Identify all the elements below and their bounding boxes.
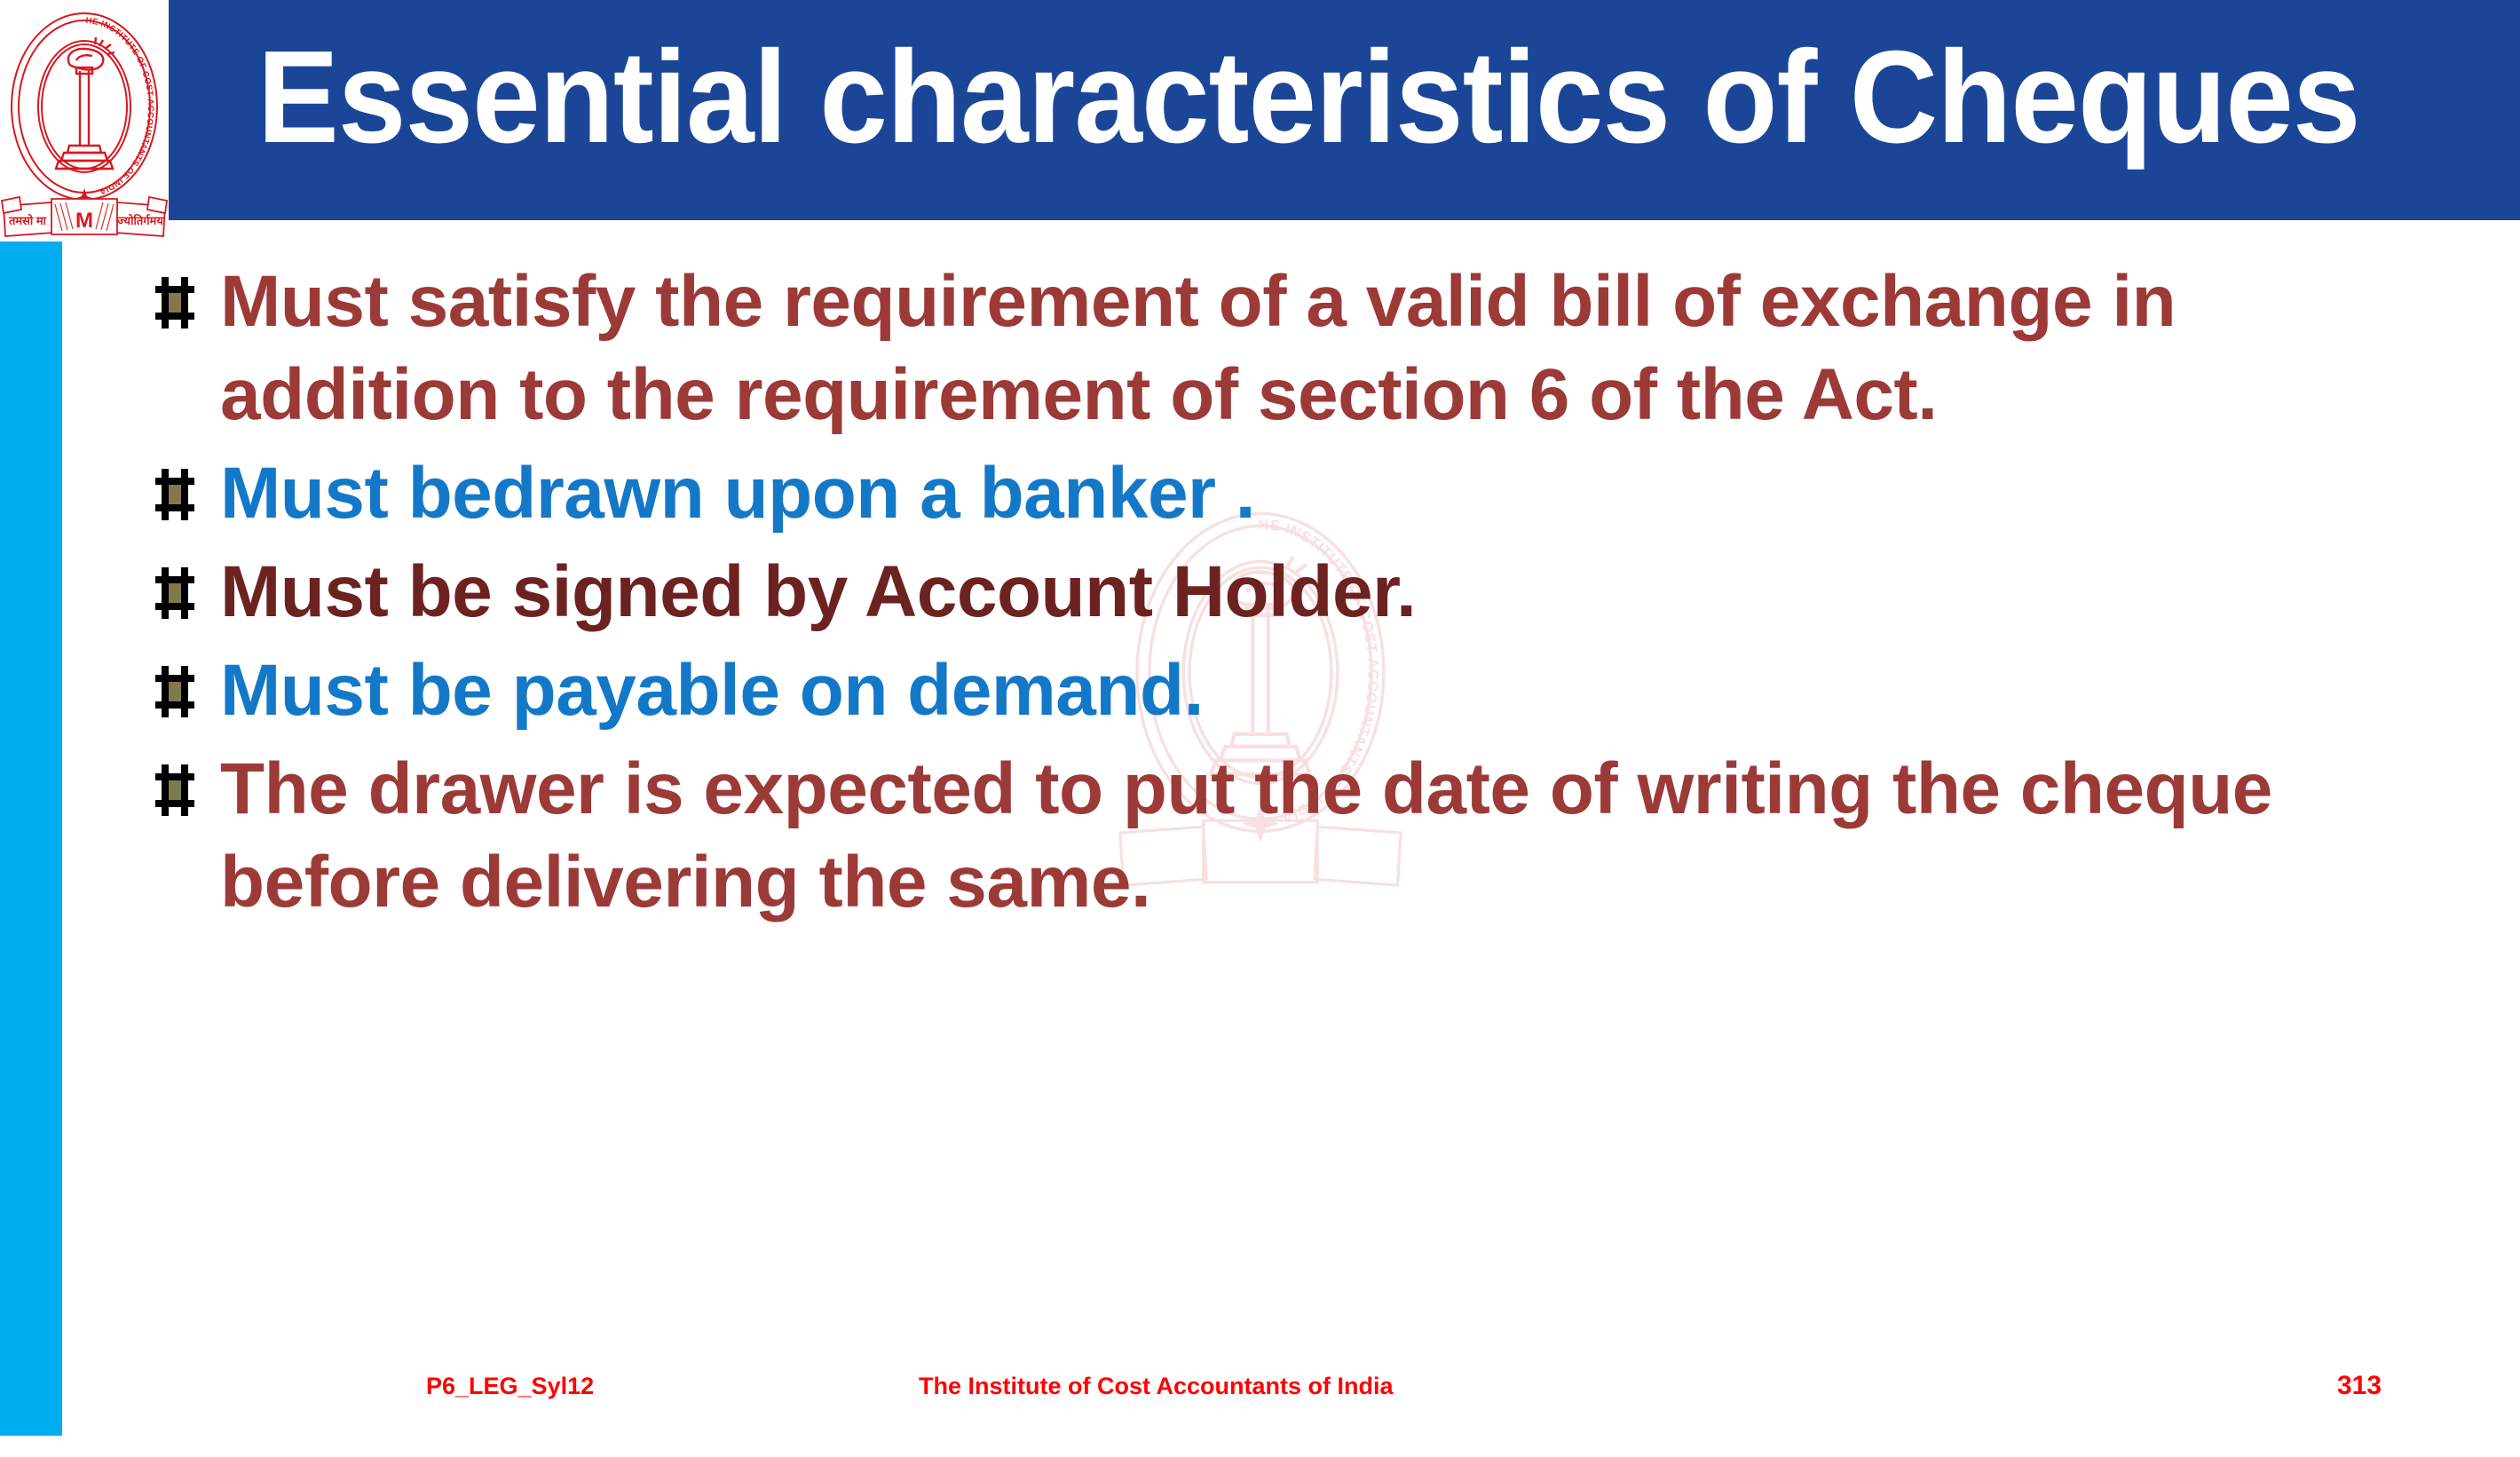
square-crossbar-bullet-icon <box>151 743 220 818</box>
footer-page-number: 313 <box>2337 1371 2382 1401</box>
square-crossbar-bullet-icon <box>151 645 220 719</box>
slide-body: Must satisfy the requirement of a valid … <box>151 256 2459 935</box>
page-title: Essential characteristics of Cheques <box>257 32 2328 163</box>
list-item: Must bedrawn upon a banker . <box>151 447 2459 541</box>
list-item-text: Must satisfy the requirement of a valid … <box>220 256 2459 442</box>
list-item-text: Must bedrawn upon a banker . <box>220 447 2459 541</box>
list-item: The drawer is expected to put the date o… <box>151 743 2459 930</box>
list-item: Must satisfy the requirement of a valid … <box>151 256 2459 442</box>
svg-text:ज्योतिर्गमय: ज्योतिर्गमय <box>116 214 163 227</box>
svg-text:तमसो मा: तमसो मा <box>8 214 47 227</box>
list-item-text: The drawer is expected to put the date o… <box>220 743 2459 930</box>
list-item: Must be payable on demand. <box>151 645 2459 738</box>
footer-institute-name: The Institute of Cost Accountants of Ind… <box>919 1373 1394 1400</box>
slide-canvas: Essential characteristics of Cheques THE… <box>0 0 2520 1457</box>
list-item-text: Must be signed by Account Holder. <box>220 546 2459 639</box>
list-item-text: Must be payable on demand. <box>220 645 2459 738</box>
slide-title-bar: Essential characteristics of Cheques <box>169 0 2520 220</box>
square-crossbar-bullet-icon <box>151 546 220 621</box>
list-item: Must be signed by Account Holder. <box>151 546 2459 639</box>
icai-logo: THE INSTITUTE OF COST ACCOUNTANTS OF IND… <box>0 0 169 238</box>
square-crossbar-bullet-icon <box>151 256 220 330</box>
left-accent-strip <box>0 242 62 1436</box>
svg-text:M: M <box>75 209 93 233</box>
svg-text:THE INSTITUTE OF COST ACCOUNTA: THE INSTITUTE OF COST ACCOUNTANTS OF IND… <box>0 0 155 196</box>
footer-syllabus-code: P6_LEG_Syl12 <box>426 1373 594 1400</box>
slide-footer: P6_LEG_Syl12 The Institute of Cost Accou… <box>0 1367 2520 1412</box>
square-crossbar-bullet-icon <box>151 447 220 522</box>
